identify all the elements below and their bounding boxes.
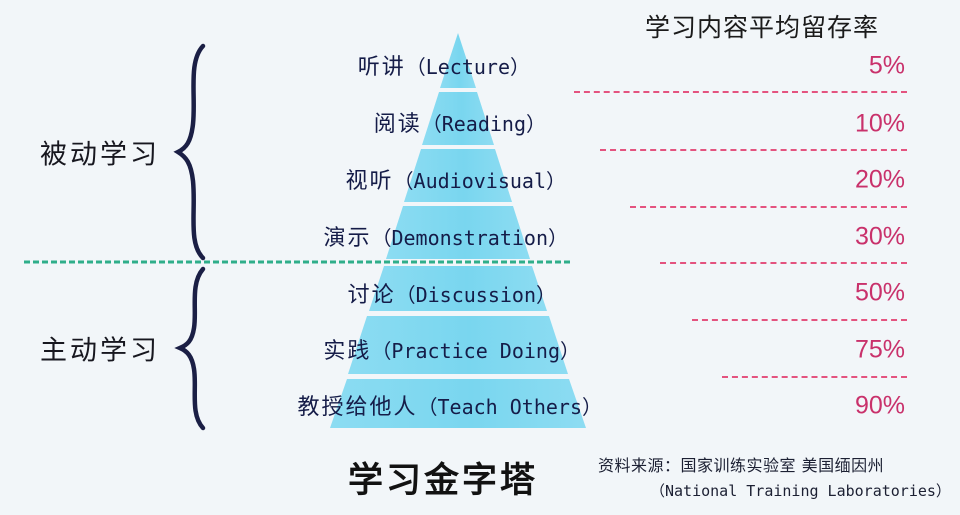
group-label-active-learning: 主动学习 (40, 329, 160, 368)
divider-passive-active (24, 261, 570, 264)
brace-active-learning (180, 269, 203, 428)
retention-value-teach-others: 90% (855, 392, 905, 421)
level-cn-lecture: 听讲 (358, 55, 406, 80)
level-en-audiovisual: （Audiovisual） (394, 169, 566, 193)
brace-passive-learning (178, 46, 203, 258)
retention-column-title: 学习内容平均留存率 (645, 8, 879, 44)
level-cn-demonstration: 演示 (323, 226, 371, 251)
level-label-audiovisual: 视听（Audiovisual） (346, 163, 566, 195)
retention-value-lecture: 5% (869, 52, 905, 81)
level-label-teach-others: 教授给他人（Teach Others） (297, 389, 602, 421)
divider-pink-5 (692, 319, 907, 321)
level-cn-reading: 阅读 (374, 112, 422, 137)
level-label-demonstration: 演示（Demonstration） (323, 220, 568, 252)
divider-pink-3 (630, 206, 907, 208)
learning-pyramid-infographic: 学习内容平均留存率 听讲（Lecture） 阅读（Reading） 视听（Aud… (0, 0, 960, 515)
divider-pink-1 (574, 91, 907, 93)
level-label-reading: 阅读（Reading） (374, 106, 546, 138)
retention-value-practice: 75% (855, 336, 905, 365)
level-en-demonstration: （Demonstration） (371, 226, 568, 250)
level-en-teach-others: （Teach Others） (418, 395, 603, 419)
retention-value-demonstration: 30% (855, 223, 905, 252)
source-text-cn: 资料来源：国家训练实验室 美国缅因州 (598, 452, 884, 476)
divider-pink-6 (722, 376, 907, 378)
level-en-discussion: （Discussion） (396, 283, 556, 307)
level-en-reading: （Reading） (422, 112, 546, 136)
level-cn-discussion: 讨论 (348, 283, 396, 308)
divider-pink-2 (600, 149, 907, 151)
source-text-en: （National Training Laboratories） (650, 480, 951, 501)
level-label-lecture: 听讲（Lecture） (358, 49, 530, 81)
level-cn-teach-others: 教授给他人 (297, 395, 417, 420)
retention-value-audiovisual: 20% (855, 166, 905, 195)
retention-value-discussion: 50% (855, 279, 905, 308)
level-cn-practice: 实践 (323, 339, 371, 364)
level-label-practice: 实践（Practice Doing） (323, 333, 580, 365)
level-label-discussion: 讨论（Discussion） (348, 277, 556, 309)
group-label-passive-learning: 被动学习 (40, 133, 160, 172)
retention-value-reading: 10% (855, 110, 905, 139)
level-en-practice: （Practice Doing） (371, 339, 580, 363)
page-title: 学习金字塔 (348, 452, 538, 503)
level-en-lecture: （Lecture） (406, 55, 530, 79)
level-cn-audiovisual: 视听 (346, 169, 394, 194)
divider-pink-4 (660, 262, 907, 264)
